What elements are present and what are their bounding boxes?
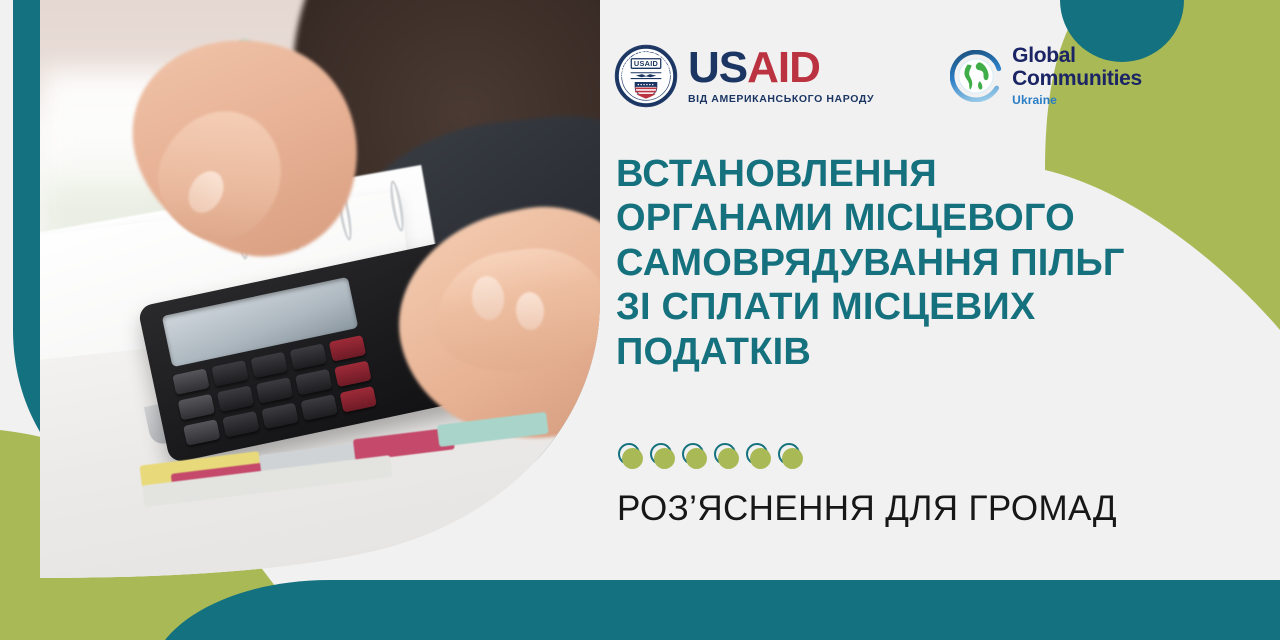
usaid-logo: UNITED STATES AGENCY INTERNATIONAL DEVEL… — [614, 44, 874, 108]
global-communities-logo: Global Communities Ukraine — [950, 45, 1142, 106]
usaid-seal-icon: UNITED STATES AGENCY INTERNATIONAL DEVEL… — [614, 44, 678, 108]
headline-line-3: САМОВРЯДУВАННЯ ПІЛЬГ — [616, 241, 1216, 285]
divider-dot — [682, 443, 708, 469]
divider-dot — [746, 443, 772, 469]
headline-line-5: ПОДАТКІВ — [616, 330, 1216, 374]
divider-dot — [714, 443, 740, 469]
dot-divider — [618, 443, 804, 469]
usaid-wordmark: USAID — [688, 47, 874, 89]
usaid-wordmark-us: US — [688, 43, 747, 92]
divider-dot — [778, 443, 804, 469]
divider-dot — [618, 443, 644, 469]
logo-row: UNITED STATES AGENCY INTERNATIONAL DEVEL… — [614, 44, 1142, 108]
page-subtitle: РОЗ’ЯСНЕННЯ ДЛЯ ГРОМАД — [617, 489, 1117, 529]
globe-icon — [950, 50, 1002, 102]
headline-line-2: ОРГАНАМИ МІСЦЕВОГО — [616, 196, 1216, 240]
gc-country: Ukraine — [1012, 93, 1142, 107]
headline-line-1: ВСТАНОВЛЕННЯ — [616, 152, 1216, 196]
gc-name-line1: Global — [1012, 45, 1142, 67]
divider-dot — [650, 443, 676, 469]
hero-photo — [40, 0, 600, 580]
svg-text:USAID: USAID — [634, 59, 658, 68]
gc-name-line2: Communities — [1012, 68, 1142, 90]
headline-line-4: ЗІ СПЛАТИ МІСЦЕВИХ — [616, 285, 1216, 329]
content-column: UNITED STATES AGENCY INTERNATIONAL DEVEL… — [600, 0, 1280, 640]
page-title: ВСТАНОВЛЕННЯ ОРГАНАМИ МІСЦЕВОГО САМОВРЯД… — [616, 152, 1216, 374]
usaid-wordmark-aid: AID — [747, 43, 820, 92]
usaid-tagline: ВІД АМЕРИКАНСЬКОГО НАРОДУ — [688, 93, 874, 105]
poster-canvas: UNITED STATES AGENCY INTERNATIONAL DEVEL… — [0, 0, 1280, 640]
